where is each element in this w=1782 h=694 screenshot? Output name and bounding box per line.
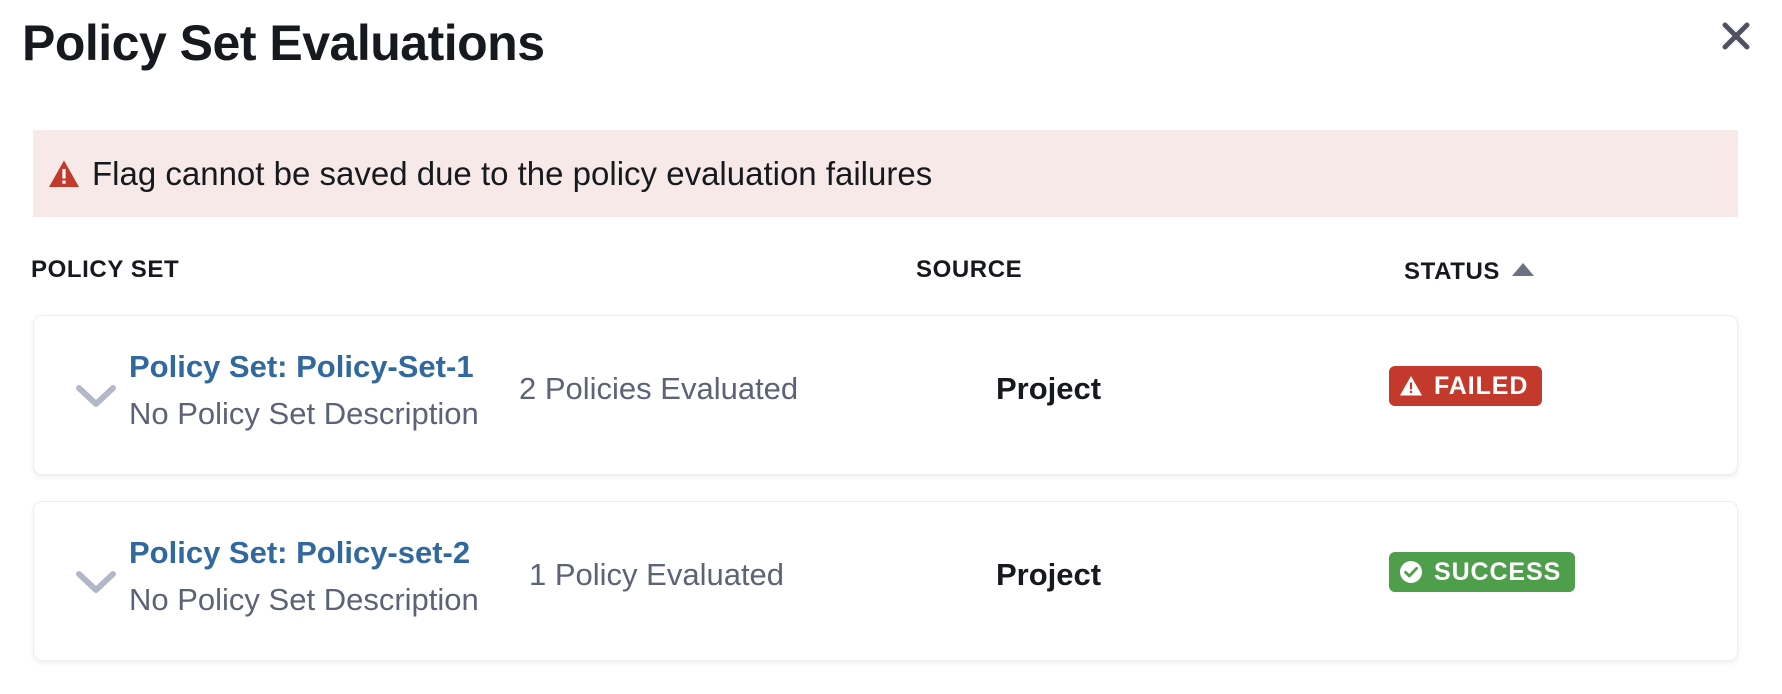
column-header-policy-set[interactable]: POLICY SET: [31, 255, 179, 285]
sort-arrow-up-icon[interactable]: [1512, 263, 1534, 276]
status-cell: SUCCESS: [1389, 552, 1669, 592]
close-icon: [1717, 17, 1755, 55]
status-badge: FAILED: [1389, 366, 1542, 406]
column-header-status[interactable]: STATUS: [1404, 257, 1500, 287]
source-value: Project: [996, 365, 1101, 412]
status-badge-label: SUCCESS: [1434, 559, 1561, 585]
chevron-down-icon[interactable]: [70, 370, 122, 422]
policies-evaluated-count: 1 Policy Evaluated: [529, 551, 784, 598]
warning-triangle-icon: [1399, 374, 1423, 398]
alert-message: Flag cannot be saved due to the policy e…: [92, 154, 932, 194]
column-header-source[interactable]: SOURCE: [916, 255, 1022, 285]
close-button[interactable]: [1708, 8, 1764, 64]
chevron-down-icon[interactable]: [70, 556, 122, 608]
warning-triangle-icon: [47, 157, 81, 191]
status-badge: SUCCESS: [1389, 552, 1575, 592]
policy-failure-alert: Flag cannot be saved due to the policy e…: [33, 130, 1738, 217]
check-circle-icon: [1399, 560, 1423, 584]
table-row[interactable]: Policy Set: Policy-set-2 No Policy Set D…: [33, 501, 1738, 661]
source-value: Project: [996, 551, 1101, 598]
page-title: Policy Set Evaluations: [22, 10, 545, 76]
table-header-row: POLICY SET SOURCE STATUS: [0, 247, 1782, 295]
modal-header: Policy Set Evaluations: [0, 0, 1782, 105]
table-row[interactable]: Policy Set: Policy-Set-1 No Policy Set D…: [33, 315, 1738, 475]
status-cell: FAILED: [1389, 366, 1669, 406]
status-badge-label: FAILED: [1434, 373, 1528, 399]
policies-evaluated-count: 2 Policies Evaluated: [519, 365, 798, 412]
